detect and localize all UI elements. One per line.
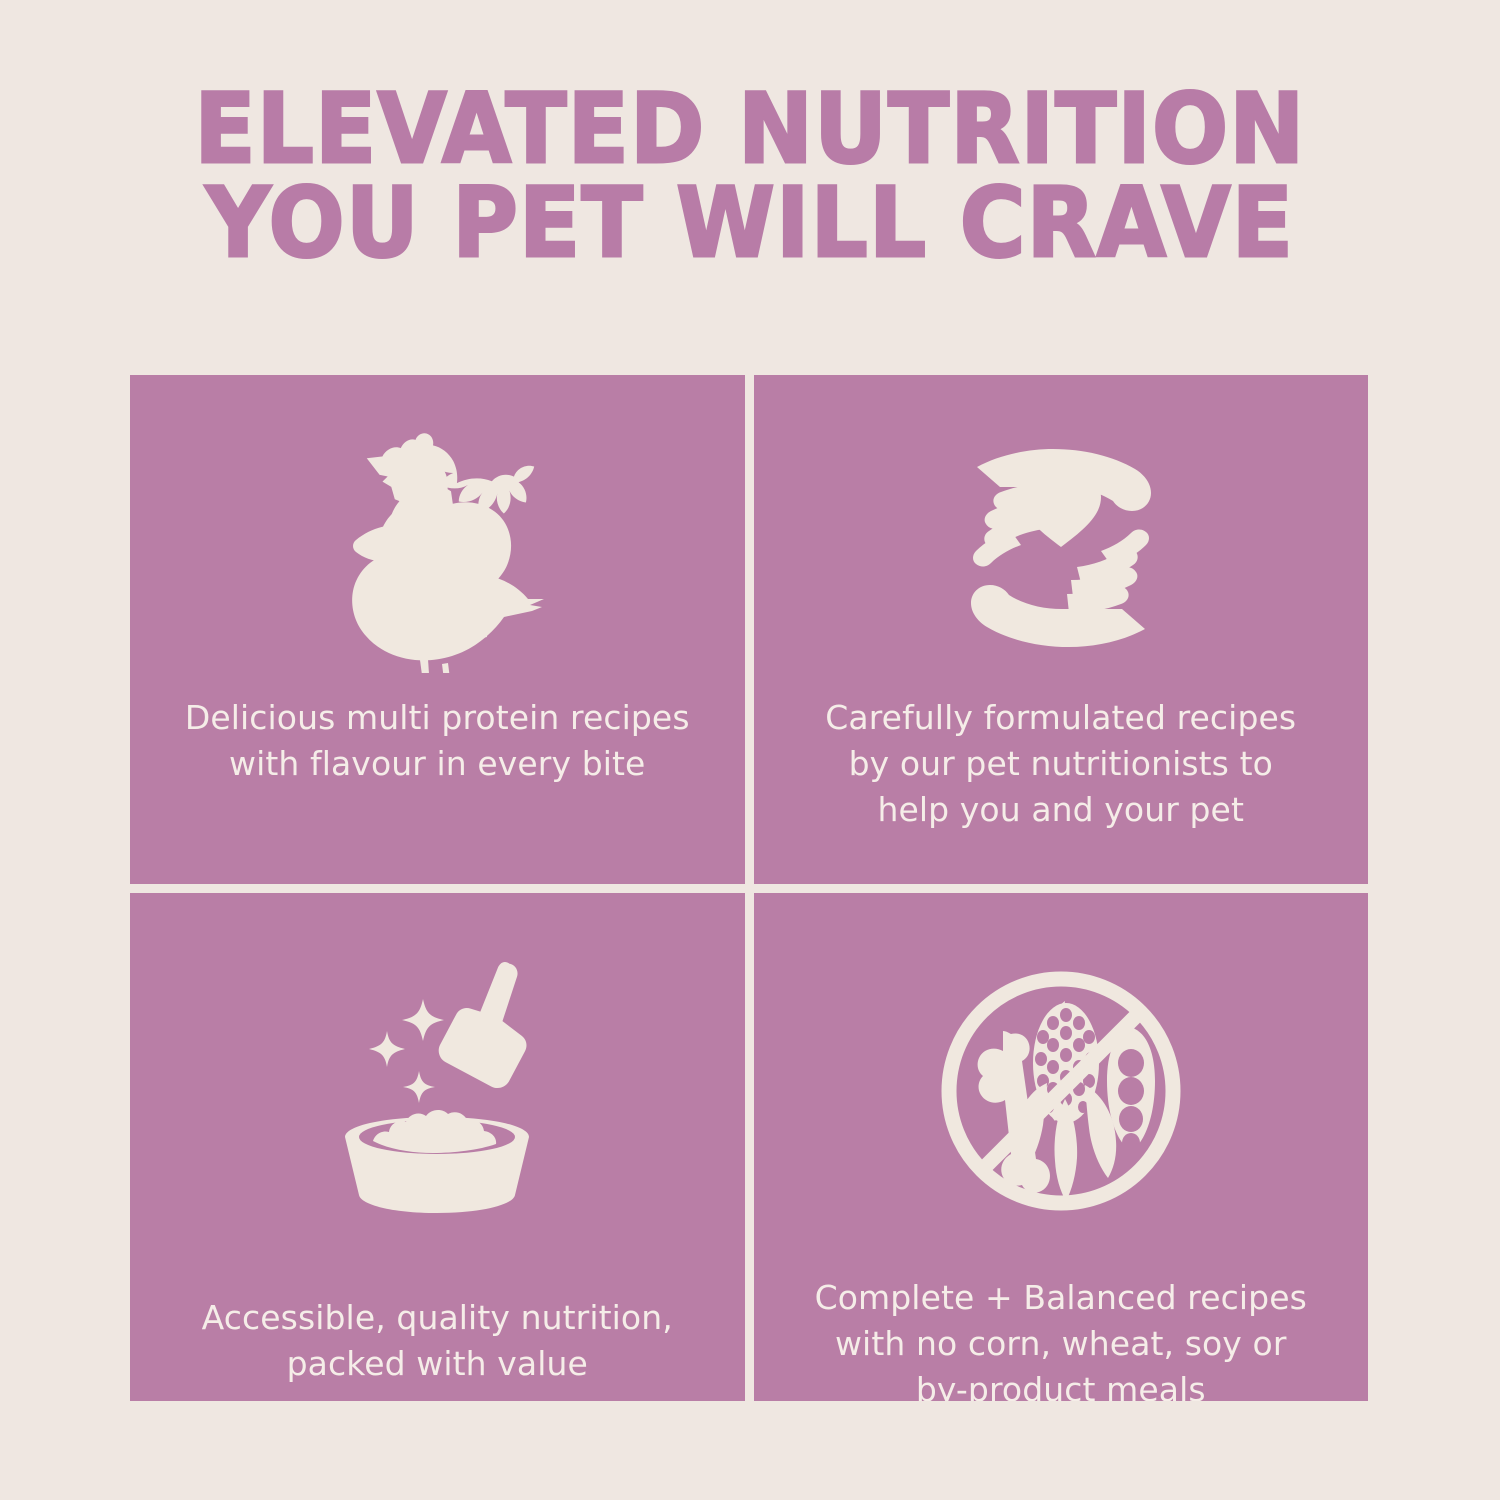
no-corn-wheat-soy-byproduct-icon: [935, 965, 1187, 1217]
feature-text-line: packed with value: [287, 1344, 588, 1383]
feature-card-text: Delicious multi protein recipes with fla…: [155, 695, 720, 787]
feature-text-line: Accessible, quality nutrition,: [202, 1298, 673, 1337]
scoop-sparkles-pet-bowl-icon: [301, 955, 573, 1227]
feature-text-line: with no corn, wheat, soy or: [835, 1324, 1287, 1363]
chicken-and-duck-icon: [312, 423, 562, 673]
feature-card-formulated: Carefully formulated recipes by our pet …: [754, 375, 1369, 884]
feature-text-line: Carefully formulated recipes: [825, 698, 1296, 737]
icon-container: [941, 423, 1181, 673]
feature-card-text: Accessible, quality nutrition, packed wi…: [155, 1295, 720, 1387]
icon-container: [312, 423, 562, 673]
feature-text-line: Delicious multi protein recipes: [185, 698, 690, 737]
feature-text-line: by our pet nutritionists to: [849, 744, 1273, 783]
icon-container: [301, 955, 573, 1227]
page-title: ELEVATED NUTRITION YOU PET WILL CRAVE: [0, 82, 1500, 270]
feature-text-line: Complete + Balanced recipes: [815, 1278, 1307, 1317]
feature-poster: ELEVATED NUTRITION YOU PET WILL CRAVE: [0, 0, 1500, 1500]
feature-grid: Delicious multi protein recipes with fla…: [130, 375, 1368, 1401]
feature-card-multi-protein: Delicious multi protein recipes with fla…: [130, 375, 745, 884]
headline-line-2: YOU PET WILL CRAVE: [53, 176, 1448, 270]
feature-text-line: by-product meals: [916, 1370, 1206, 1402]
icon-container: [935, 965, 1187, 1217]
feature-text-line: help you and your pet: [877, 790, 1244, 829]
feature-card-text: Carefully formulated recipes by our pet …: [778, 695, 1343, 833]
feature-card-value: Accessible, quality nutrition, packed wi…: [130, 893, 745, 1402]
headline-line-1: ELEVATED NUTRITION: [53, 82, 1448, 176]
feature-text-line: with flavour in every bite: [229, 744, 645, 783]
hands-holding-heart-icon: [941, 433, 1181, 663]
feature-card-no-fillers: Complete + Balanced recipes with no corn…: [754, 893, 1369, 1402]
feature-card-text: Complete + Balanced recipes with no corn…: [778, 1275, 1343, 1402]
